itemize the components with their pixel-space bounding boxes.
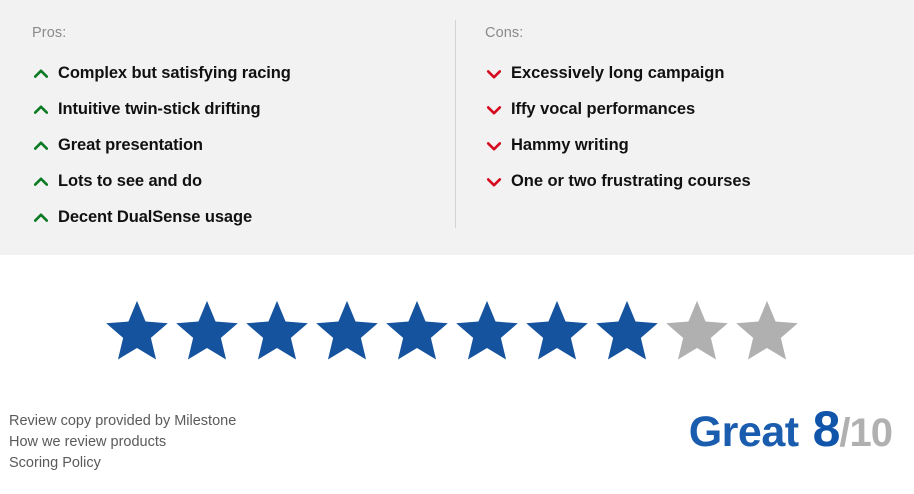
pros-heading: Pros: — [32, 24, 455, 42]
footer-link-scoring-policy[interactable]: Scoring Policy — [9, 453, 236, 474]
footer-link-review-copy[interactable]: Review copy provided by Milestone — [9, 411, 236, 432]
star-icon-empty — [662, 296, 732, 366]
pros-item-label: Great presentation — [58, 136, 203, 155]
pros-column: Pros: Complex but satisfying racing Intu… — [0, 0, 455, 255]
star-icon-filled — [102, 296, 172, 366]
list-item: Iffy vocal performances — [485, 91, 914, 127]
chevron-down-icon — [485, 137, 503, 155]
chevron-up-icon — [32, 65, 50, 83]
star-icon-filled — [592, 296, 662, 366]
score-block: Great 8 /10 — [689, 400, 892, 458]
cons-item-label: Excessively long campaign — [511, 64, 724, 83]
cons-heading: Cons: — [485, 24, 914, 42]
score-word: Great — [689, 408, 799, 457]
cons-item-label: One or two frustrating courses — [511, 172, 751, 191]
list-item: Complex but satisfying racing — [32, 55, 455, 91]
footer-link-how-we-review[interactable]: How we review products — [9, 432, 236, 453]
pros-item-label: Intuitive twin-stick drifting — [58, 100, 260, 119]
list-item: Excessively long campaign — [485, 55, 914, 91]
pros-item-label: Complex but satisfying racing — [58, 64, 291, 83]
chevron-down-icon — [485, 65, 503, 83]
cons-column: Cons: Excessively long campaign Iffy voc… — [455, 0, 914, 255]
list-item: Decent DualSense usage — [32, 199, 455, 235]
star-icon-filled — [312, 296, 382, 366]
chevron-up-icon — [32, 101, 50, 119]
star-icon-filled — [522, 296, 592, 366]
score-denominator: /10 — [839, 411, 892, 456]
cons-item-label: Hammy writing — [511, 136, 629, 155]
list-item: Intuitive twin-stick drifting — [32, 91, 455, 127]
list-item: One or two frustrating courses — [485, 163, 914, 199]
list-item: Hammy writing — [485, 127, 914, 163]
star-icon-filled — [242, 296, 312, 366]
list-item: Great presentation — [32, 127, 455, 163]
cons-list: Excessively long campaign Iffy vocal per… — [485, 55, 914, 199]
chevron-up-icon — [32, 173, 50, 191]
chevron-up-icon — [32, 209, 50, 227]
star-icon-empty — [732, 296, 802, 366]
chevron-up-icon — [32, 137, 50, 155]
cons-item-label: Iffy vocal performances — [511, 100, 695, 119]
pros-item-label: Lots to see and do — [58, 172, 202, 191]
star-icon-filled — [382, 296, 452, 366]
pros-item-label: Decent DualSense usage — [58, 208, 252, 227]
chevron-down-icon — [485, 173, 503, 191]
score-value: 8 — [813, 400, 840, 458]
footer-links: Review copy provided by Milestone How we… — [9, 411, 236, 474]
pros-cons-panel: Pros: Complex but satisfying racing Intu… — [0, 0, 914, 255]
star-icon-filled — [452, 296, 522, 366]
pros-list: Complex but satisfying racing Intuitive … — [32, 55, 455, 235]
chevron-down-icon — [485, 101, 503, 119]
star-icon-filled — [172, 296, 242, 366]
star-rating — [102, 295, 802, 367]
list-item: Lots to see and do — [32, 163, 455, 199]
